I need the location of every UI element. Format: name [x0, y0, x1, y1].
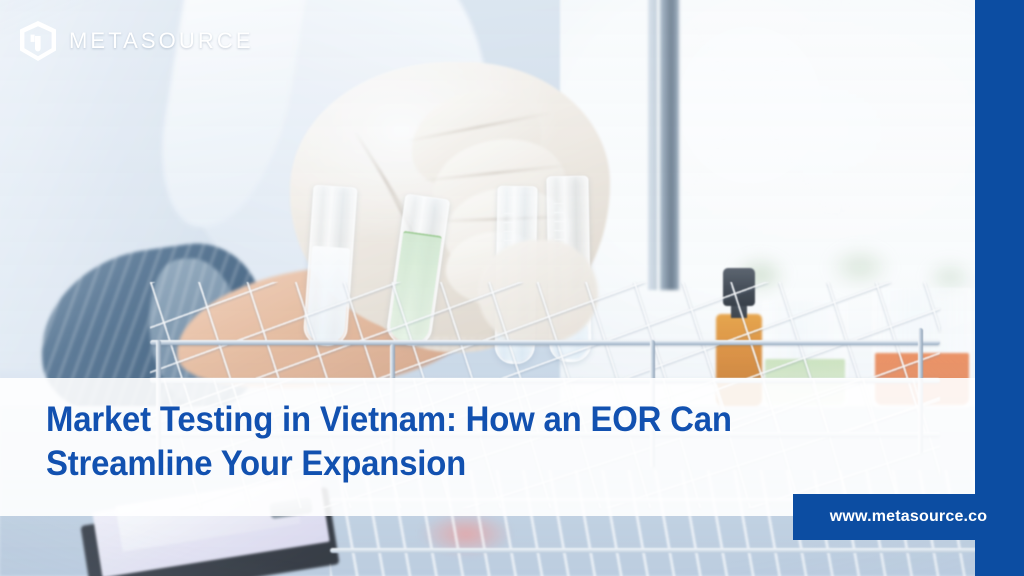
window-frame-mullion [660, 0, 679, 290]
rack-rail [150, 340, 940, 345]
metasource-hexagon-m-icon [18, 20, 58, 62]
right-blue-rail [975, 0, 1024, 576]
website-url-badge[interactable]: www.metasource.co [793, 494, 1024, 540]
window-glow [600, 0, 900, 270]
metasource-logo[interactable]: METASOURCE [18, 20, 254, 62]
metasource-wordmark: METASOURCE [69, 30, 254, 52]
banner-canvas: METASOURCE Market Testing in Vietnam: Ho… [0, 0, 1024, 576]
rack-base-rail [330, 548, 1024, 553]
window-frame-inner [648, 0, 657, 290]
page-title: Market Testing in Vietnam: How an EOR Ca… [46, 398, 789, 486]
website-url-label: www.metasource.co [830, 508, 988, 526]
